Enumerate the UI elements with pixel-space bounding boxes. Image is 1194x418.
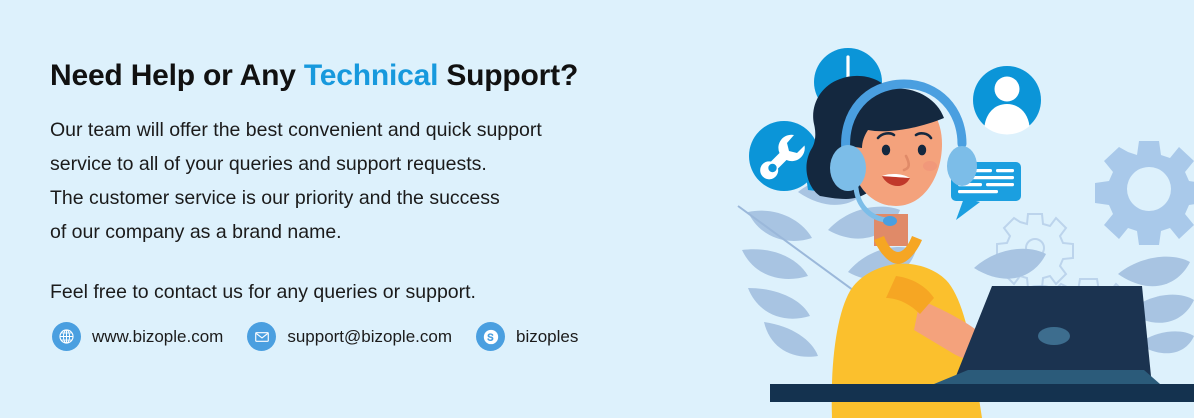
envelope-icon xyxy=(247,322,276,351)
cta-paragraph: Feel free to contact us for any queries … xyxy=(50,249,750,309)
body-line: of our company as a brand name. xyxy=(50,215,750,249)
contact-email-label: support@bizople.com xyxy=(287,327,452,347)
body-line: The customer service is our priority and… xyxy=(50,181,750,215)
gear-icon-large-hub xyxy=(1127,167,1171,211)
support-banner: Need Help or Any Technical Support? Our … xyxy=(0,0,1194,418)
page-title: Need Help or Any Technical Support? xyxy=(50,58,750,94)
contact-row: www.bizople.com support@bizople.com bizo… xyxy=(52,322,578,351)
contact-website-label: www.bizople.com xyxy=(92,327,223,347)
body-paragraph: Our team will offer the best convenient … xyxy=(50,94,750,249)
page-title-accent: Technical xyxy=(304,59,438,92)
contact-skype[interactable]: bizoples xyxy=(476,322,578,351)
globe-icon xyxy=(52,322,81,351)
contact-skype-label: bizoples xyxy=(516,327,578,347)
desk xyxy=(770,384,1194,402)
body-line: Our team will offer the best convenient … xyxy=(50,113,750,147)
banner-content: Need Help or Any Technical Support? Our … xyxy=(50,58,750,309)
support-illustration xyxy=(724,0,1194,418)
page-title-part-1: Need Help or Any xyxy=(50,59,304,92)
body-line: service to all of your queries and suppo… xyxy=(50,147,750,181)
skype-icon xyxy=(476,322,505,351)
page-title-part-2: Support? xyxy=(438,59,578,92)
contact-email[interactable]: support@bizople.com xyxy=(247,322,452,351)
user-avatar-icon xyxy=(973,66,1041,135)
contact-website[interactable]: www.bizople.com xyxy=(52,322,223,351)
